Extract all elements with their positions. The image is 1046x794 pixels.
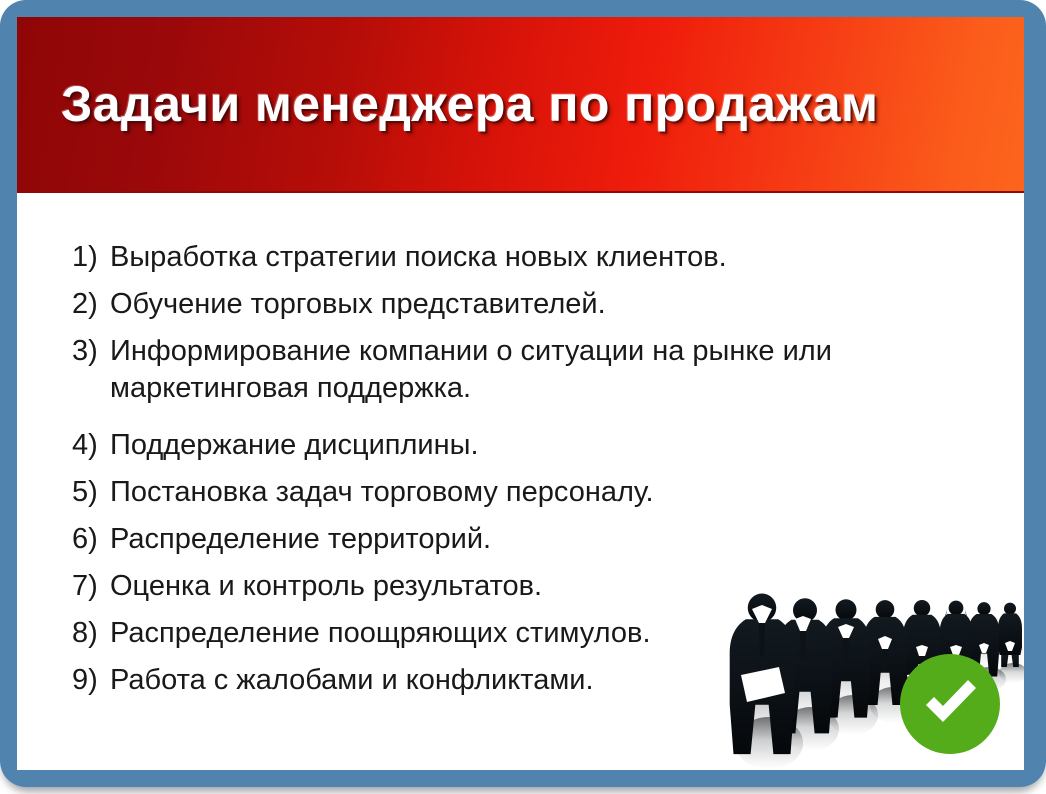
list-item-number: 1) <box>72 239 110 276</box>
list-item-label: Распределение территорий. <box>110 521 491 558</box>
list-item: 6)Распределение территорий. <box>72 521 491 558</box>
list-item: 7)Оценка и контроль результатов. <box>72 568 542 605</box>
list-item: 4)Поддержание дисциплины. <box>72 427 479 464</box>
list-item-number: 7) <box>72 568 110 605</box>
slide-content-area: Задачи менеджера по продажам 1)Выработка… <box>17 17 1024 770</box>
list-item-label: Обучение торговых представителей. <box>110 286 606 323</box>
list-item-label: Выработка стратегии поиска новых клиенто… <box>110 239 727 276</box>
list-item-label-continuation: маркетинговая поддержка. <box>110 370 832 407</box>
check-circle-icon <box>898 652 1002 756</box>
list-item-number: 4) <box>72 427 110 464</box>
list-item-number: 9) <box>72 662 110 699</box>
list-item: 9)Работа с жалобами и конфликтами. <box>72 662 594 699</box>
list-item: 8)Распределение поощряющих стимулов. <box>72 615 651 652</box>
page-title: Задачи менеджера по продажам <box>61 79 878 129</box>
list-item-label: Оценка и контроль результатов. <box>110 568 542 605</box>
list-item-number: 6) <box>72 521 110 558</box>
slide: Задачи менеджера по продажам 1)Выработка… <box>0 0 1046 794</box>
list-item-label: Поддержание дисциплины. <box>110 427 479 464</box>
list-item: 5)Постановка задач торговому персоналу. <box>72 474 654 511</box>
list-item: 2)Обучение торговых представителей. <box>72 286 606 323</box>
list-item-number: 8) <box>72 615 110 652</box>
list-item-label: Постановка задач торговому персоналу. <box>110 474 654 511</box>
list-item-number: 5) <box>72 474 110 511</box>
list-item-label: Информирование компании о ситуации на ры… <box>110 333 832 370</box>
list-item-label: Работа с жалобами и конфликтами. <box>110 662 594 699</box>
list-item-number: 2) <box>72 286 110 323</box>
list-item-number: 3) <box>72 333 110 370</box>
header-banner: Задачи менеджера по продажам <box>17 17 1024 193</box>
list-item-label: Распределение поощряющих стимулов. <box>110 615 651 652</box>
list-item: 1)Выработка стратегии поиска новых клиен… <box>72 239 727 276</box>
list-item: 3)Информирование компании о ситуации на … <box>72 333 832 407</box>
